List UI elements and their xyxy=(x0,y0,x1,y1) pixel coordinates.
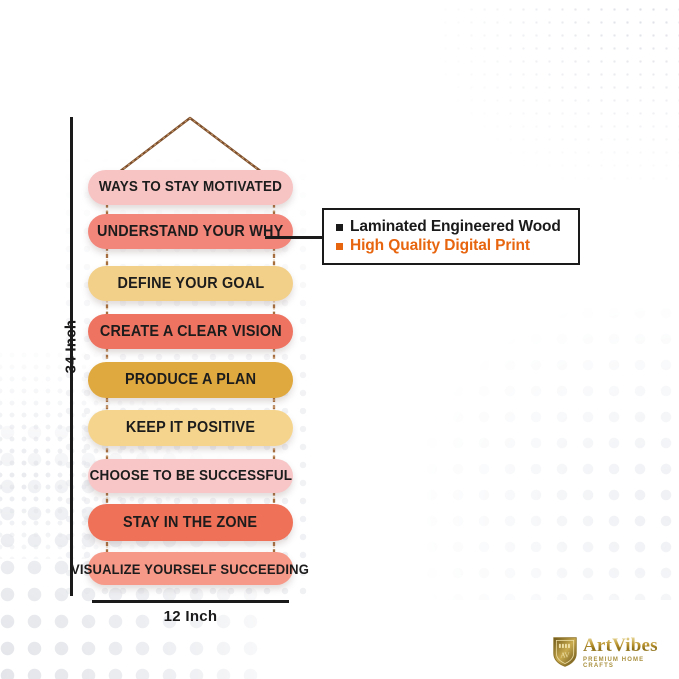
logo-text-block: ArtVibes PREMIUM HOME CRAFTS xyxy=(583,636,672,669)
plank-8: STAY IN THE ZONE xyxy=(88,504,293,541)
plank-4: CREATE A CLEAR VISION xyxy=(88,314,293,349)
logo-monogram: AV xyxy=(560,653,569,660)
legend-item: High Quality Digital Print xyxy=(336,236,568,255)
plank-label: DEFINE YOUR GOAL xyxy=(117,276,264,292)
brand-wordmark: ArtVibes xyxy=(583,636,672,655)
wall-hanging-board: WAYS TO STAY MOTIVATEDUNDERSTAND YOUR WH… xyxy=(88,112,293,584)
legend-connector-line xyxy=(265,236,323,239)
plank-9: VISUALIZE YOURSELF SUCCEEDING xyxy=(88,552,293,585)
legend-item: Laminated Engineered Wood xyxy=(336,217,568,236)
plank-label: WAYS TO STAY MOTIVATED xyxy=(99,180,282,195)
plank-label: CHOOSE TO BE SUCCESSFUL xyxy=(89,469,292,484)
plank-list: WAYS TO STAY MOTIVATEDUNDERSTAND YOUR WH… xyxy=(88,112,293,584)
halftone-dots-top-right xyxy=(439,0,679,180)
halftone-dots-mid-right xyxy=(419,300,679,600)
plank-1: WAYS TO STAY MOTIVATED xyxy=(88,170,293,205)
width-measurement-line xyxy=(92,600,289,603)
plank-5: PRODUCE A PLAN xyxy=(88,362,293,398)
plank-label: KEEP IT POSITIVE xyxy=(126,420,255,436)
plank-label: PRODUCE A PLAN xyxy=(125,372,256,388)
product-image-canvas: 34 Inch 12 Inch WAY xyxy=(0,0,679,679)
plank-label: UNDERSTAND YOUR WHY xyxy=(97,224,283,240)
plank-6: KEEP IT POSITIVE xyxy=(88,410,293,446)
legend-bullet-square-icon xyxy=(336,224,343,231)
width-dimension-label: 12 Inch xyxy=(92,608,289,625)
plank-label: VISUALIZE YOURSELF SUCCEEDING xyxy=(71,562,309,576)
plank-label: CREATE A CLEAR VISION xyxy=(100,324,282,340)
brand-logo: AV ArtVibes PREMIUM HOME CRAFTS xyxy=(552,632,672,672)
height-dimension-label: 34 Inch xyxy=(63,312,80,382)
legend-bullet-square-icon xyxy=(336,243,343,250)
legend-item-label: High Quality Digital Print xyxy=(350,236,530,255)
shield-icon: AV xyxy=(552,636,578,667)
plank-3: DEFINE YOUR GOAL xyxy=(88,266,293,301)
plank-label: STAY IN THE ZONE xyxy=(123,515,257,531)
plank-2: UNDERSTAND YOUR WHY xyxy=(88,214,293,249)
plank-7: CHOOSE TO BE SUCCESSFUL xyxy=(88,459,293,493)
material-legend: Laminated Engineered Wood High Quality D… xyxy=(322,208,580,265)
legend-item-label: Laminated Engineered Wood xyxy=(350,217,561,236)
brand-tagline: PREMIUM HOME CRAFTS xyxy=(583,657,672,669)
